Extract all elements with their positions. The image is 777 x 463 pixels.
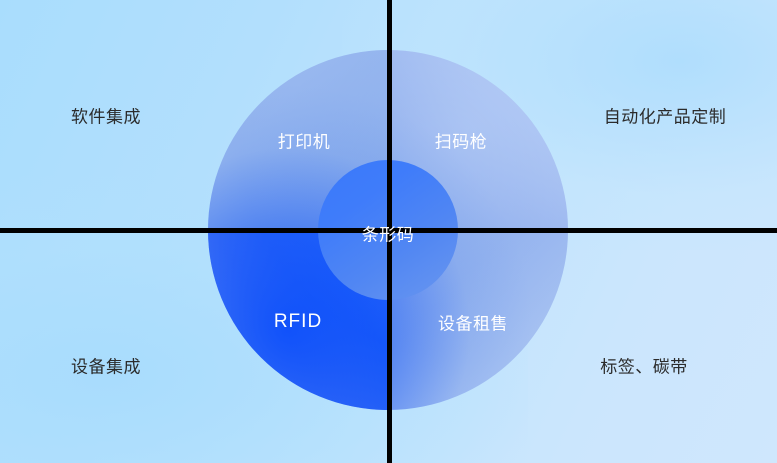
outer-label-software-integration: 软件集成: [71, 103, 141, 128]
segment-label-scanner: 扫码枪: [435, 128, 488, 153]
segment-label-rental: 设备租售: [438, 310, 508, 335]
segment-label-rfid: RFID: [274, 311, 322, 333]
segment-label-printer: 打印机: [278, 128, 331, 153]
diagram-canvas: 打印机 扫码枪 RFID 设备租售 条形码 软件集成 自动化产品定制 设备集成 …: [0, 0, 777, 463]
outer-label-equipment-integration: 设备集成: [71, 353, 141, 378]
center-circle-label: 条形码: [362, 221, 415, 246]
outer-label-labels-ribbons: 标签、碳带: [600, 353, 688, 378]
outer-label-automation-custom: 自动化产品定制: [604, 103, 727, 128]
